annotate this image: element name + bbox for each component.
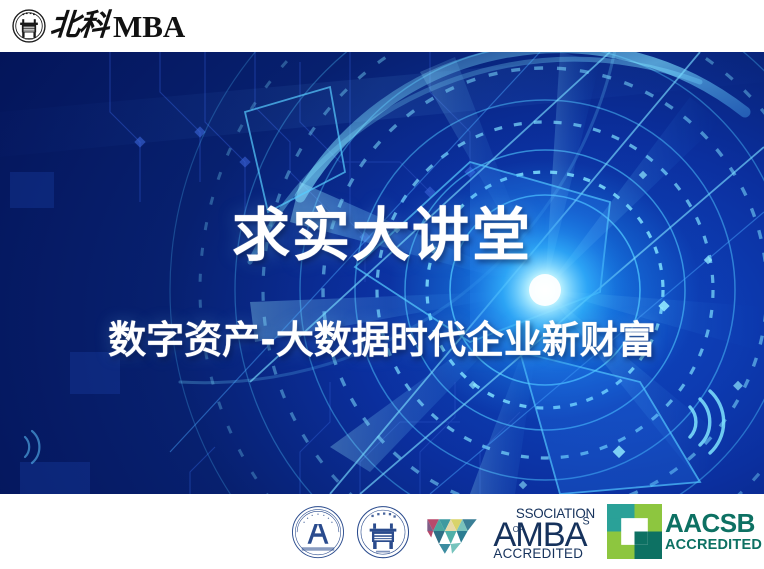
svg-text:ACCREDITED: ACCREDITED [493, 546, 583, 560]
ustb-seal [354, 503, 412, 559]
aacsb-accredited-label: ACCREDITED [665, 538, 762, 553]
svg-text:S: S [582, 516, 589, 528]
slide-footer: AMBA SSOCIATION OF S ACCREDITED [0, 494, 764, 569]
hero-background: 求实大讲堂 数字资产-大数据时代企业新财富 [0, 52, 764, 494]
brand-lockup: 北科 MBA [12, 9, 185, 43]
presentation-slide: 北科 MBA [0, 0, 764, 569]
aacsb-accredited-logo: AACSB ACCREDITED [607, 504, 762, 559]
mpacc-seal [289, 503, 347, 559]
aacsb-pinwheel-icon [607, 504, 662, 559]
tech-background-artwork [0, 52, 764, 494]
brand-name-en: MBA [113, 11, 185, 42]
amba-diamond-icon [419, 505, 485, 557]
ustb-mba-seal-logo [12, 9, 46, 43]
amba-accredited-logo: AMBA SSOCIATION OF S ACCREDITED [492, 502, 600, 560]
slide-header: 北科 MBA [0, 0, 764, 52]
svg-text:OF: OF [513, 525, 524, 534]
aacsb-name: AACSB [665, 510, 762, 536]
accreditation-logos: AMBA SSOCIATION OF S ACCREDITED [289, 500, 762, 562]
brand-name-cn: 北科 [49, 11, 109, 41]
